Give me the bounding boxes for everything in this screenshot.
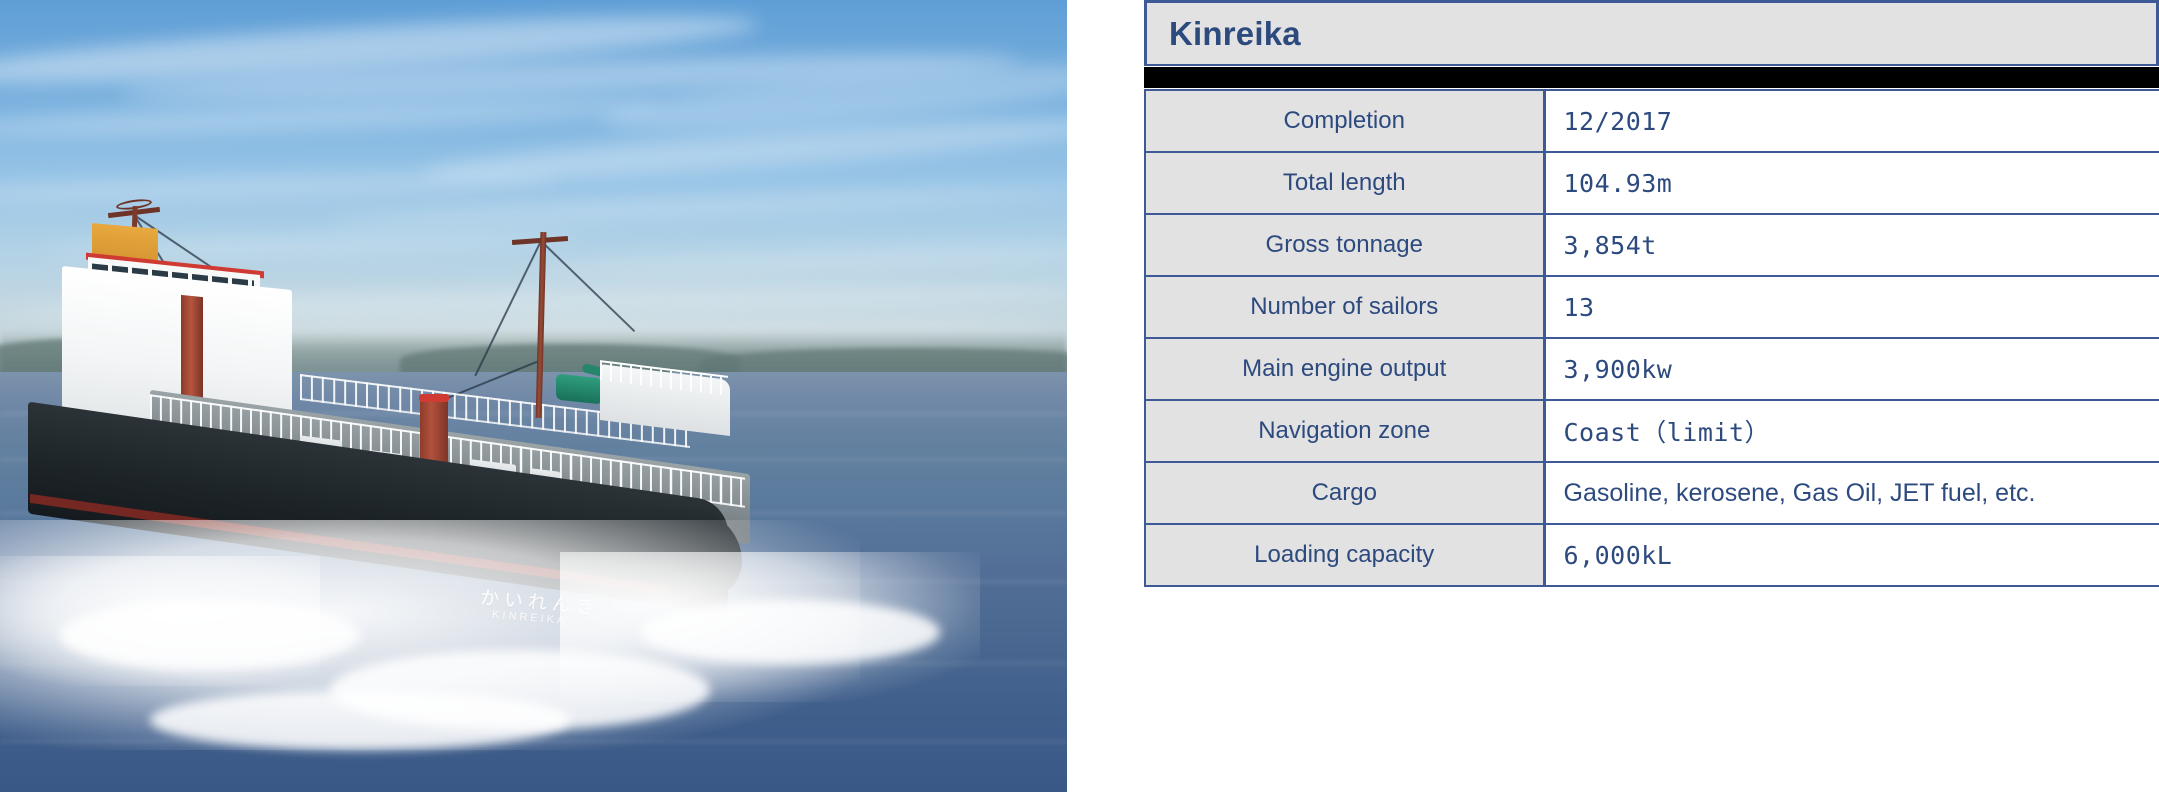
spec-value: 3,854t <box>1544 214 2159 276</box>
table-row: Number of sailors 13 <box>1145 276 2159 338</box>
title-divider <box>1144 67 2159 88</box>
table-row: Total length 104.93m <box>1145 152 2159 214</box>
spec-title-bar: Kinreika <box>1144 0 2159 66</box>
spec-label: Number of sailors <box>1145 276 1544 338</box>
specification-panel: Kinreika Completion 12/2017 Total length… <box>1144 0 2159 792</box>
funnel-cap <box>419 394 449 402</box>
spec-value: 3,900kw <box>1544 338 2159 400</box>
spec-value: 13 <box>1544 276 2159 338</box>
spec-value: Coast（limit） <box>1544 400 2159 462</box>
foam-patch <box>640 600 940 664</box>
table-row: Completion 12/2017 <box>1145 90 2159 152</box>
spec-value: Gasoline, kerosene, Gas Oil, JET fuel, e… <box>1544 462 2159 524</box>
specification-table: Completion 12/2017 Total length 104.93m … <box>1144 89 2159 587</box>
specification-table-body: Completion 12/2017 Total length 104.93m … <box>1145 90 2159 586</box>
spec-value: 6,000kL <box>1544 524 2159 586</box>
spec-value: 104.93m <box>1544 152 2159 214</box>
ship-photo: かいれんき KINREIKA <box>0 0 1067 792</box>
spec-label: Gross tonnage <box>1145 214 1544 276</box>
spec-label: Navigation zone <box>1145 400 1544 462</box>
layout-gap <box>1067 0 1144 792</box>
spec-label: Loading capacity <box>1145 524 1544 586</box>
spec-label: Cargo <box>1145 462 1544 524</box>
page-title: Kinreika <box>1169 15 1301 53</box>
spec-label: Completion <box>1145 90 1544 152</box>
table-row: Gross tonnage 3,854t <box>1145 214 2159 276</box>
table-row: Cargo Gasoline, kerosene, Gas Oil, JET f… <box>1145 462 2159 524</box>
spec-label: Total length <box>1145 152 1544 214</box>
table-row: Loading capacity 6,000kL <box>1145 524 2159 586</box>
spec-label: Main engine output <box>1145 338 1544 400</box>
foam-patch <box>60 600 360 670</box>
table-row: Main engine output 3,900kw <box>1145 338 2159 400</box>
ship-photo-pane: かいれんき KINREIKA <box>0 0 1067 792</box>
deck-crane <box>556 374 602 405</box>
page-root: かいれんき KINREIKA Kinreika Completion 12/20… <box>0 0 2159 792</box>
table-row: Navigation zone Coast（limit） <box>1145 400 2159 462</box>
spec-value: 12/2017 <box>1544 90 2159 152</box>
foam-patch <box>150 690 570 750</box>
